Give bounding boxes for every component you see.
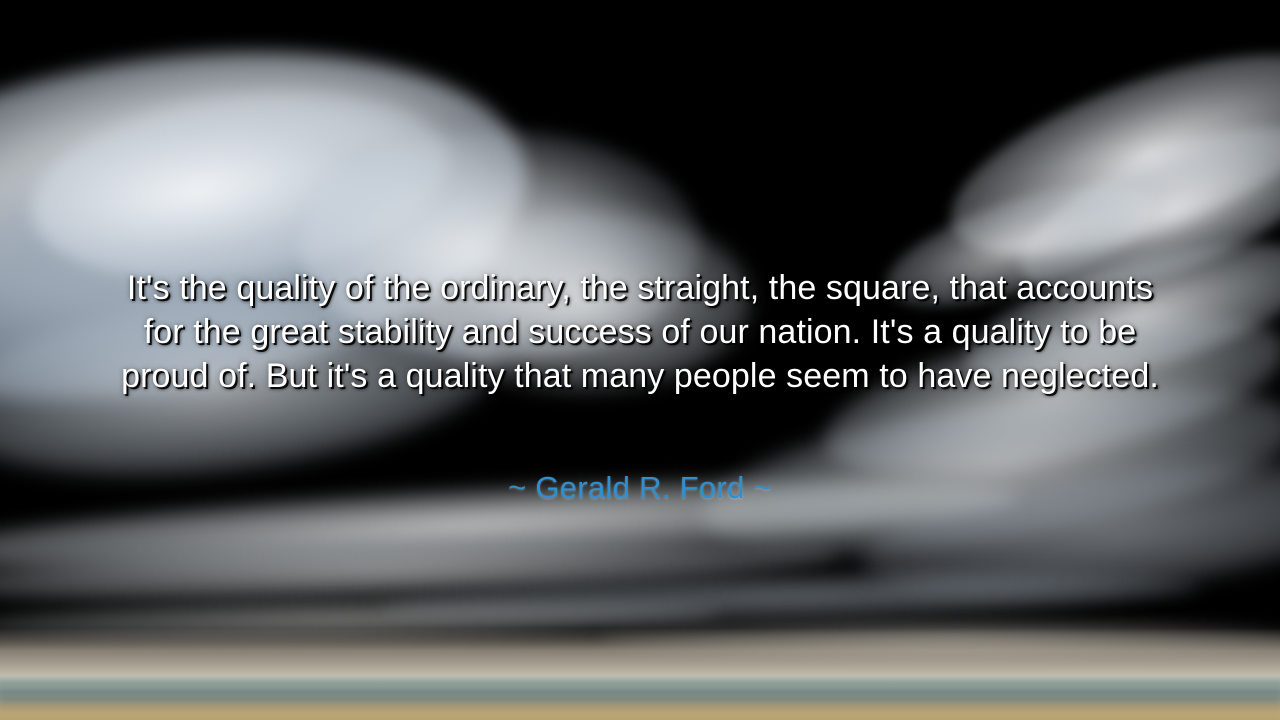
quote-text: It's the quality of the ordinary, the st… [120, 266, 1160, 398]
attribution-block: ~ Gerald R. Ford ~ [0, 468, 1280, 508]
ground-plain [0, 676, 1280, 720]
attribution-text: ~ Gerald R. Ford ~ [0, 468, 1280, 508]
quote-block: It's the quality of the ordinary, the st… [0, 266, 1280, 398]
horizon-haze [0, 628, 1280, 678]
quote-card: It's the quality of the ordinary, the st… [0, 0, 1280, 720]
